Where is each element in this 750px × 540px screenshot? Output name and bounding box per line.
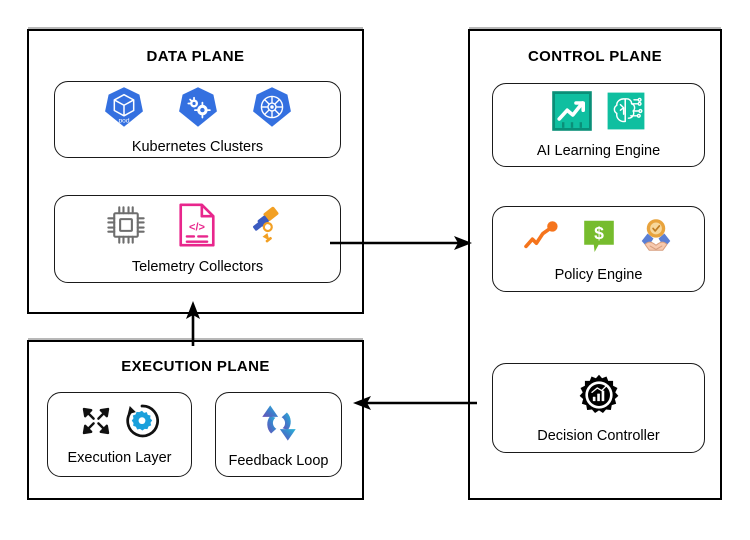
telescope-icon	[247, 203, 291, 252]
data-plane-title: DATA PLANE	[29, 48, 362, 65]
gear-analytics-icon	[577, 373, 621, 422]
card-label: Policy Engine	[555, 268, 643, 283]
card-label: Execution Layer	[68, 451, 172, 466]
card-icon-row: pod	[102, 85, 294, 134]
kubernetes-pod-icon: pod	[102, 85, 146, 134]
card-icon-row: $	[521, 215, 677, 262]
svg-text:$: $	[594, 223, 604, 243]
expand-arrows-icon	[81, 406, 111, 441]
orange-trendline-icon	[521, 216, 563, 261]
cpu-chip-icon	[105, 204, 147, 251]
control-plane-container[interactable]: CONTROL PLANE	[468, 29, 722, 500]
card-icon-row: </>	[105, 203, 291, 252]
card-policy-engine[interactable]: $	[492, 206, 705, 292]
card-icon-row	[256, 401, 302, 450]
feedback-loop-icon	[256, 401, 302, 450]
card-label: Feedback Loop	[229, 454, 329, 469]
gear-refresh-icon	[125, 404, 159, 443]
card-label: AI Learning Engine	[537, 144, 660, 159]
execution-plane-title: EXECUTION PLANE	[29, 358, 362, 375]
card-execution-layer[interactable]: Execution Layer	[47, 392, 192, 477]
diagram-canvas: DATA PLANE pod	[0, 0, 750, 540]
card-label: Kubernetes Clusters	[132, 140, 263, 155]
kubernetes-helm-icon	[250, 85, 294, 134]
ai-brain-circuit-icon	[606, 91, 646, 136]
card-ai-learning-engine[interactable]: AI Learning Engine	[492, 83, 705, 167]
connector-data-plane-to-control-plane	[330, 228, 475, 263]
kubernetes-gears-icon	[176, 85, 220, 134]
card-telemetry-collectors[interactable]: </>	[54, 195, 341, 283]
card-icon-row	[552, 91, 646, 136]
handshake-badge-icon	[635, 215, 677, 262]
execution-plane-container[interactable]: EXECUTION PLANE	[27, 340, 364, 500]
control-plane-title: CONTROL PLANE	[470, 48, 720, 65]
card-icon-row	[577, 373, 621, 422]
card-feedback-loop[interactable]: Feedback Loop	[215, 392, 342, 477]
code-file-icon: </>	[177, 203, 217, 252]
dollar-bubble-icon: $	[581, 216, 617, 261]
card-label: Decision Controller	[537, 429, 660, 444]
connector-control-plane-to-execution-plane	[352, 388, 477, 423]
card-kubernetes-clusters[interactable]: pod	[54, 81, 341, 158]
card-icon-row	[81, 404, 159, 443]
svg-text:pod: pod	[118, 117, 129, 124]
card-decision-controller[interactable]: Decision Controller	[492, 363, 705, 453]
connector-execution-plane-to-data-plane	[178, 300, 208, 351]
svg-text:</>: </>	[189, 222, 205, 234]
trending-chart-icon	[552, 91, 592, 136]
card-label: Telemetry Collectors	[132, 260, 263, 275]
data-plane-container[interactable]: DATA PLANE pod	[27, 29, 364, 314]
